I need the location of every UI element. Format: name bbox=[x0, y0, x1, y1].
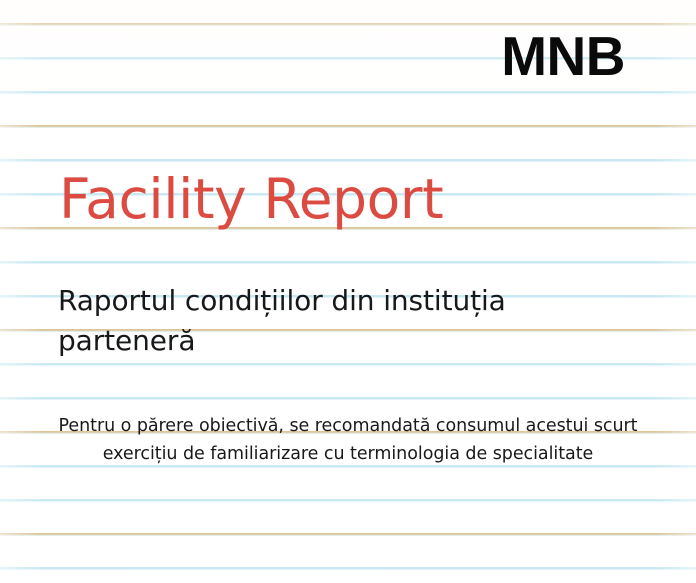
report-cover-page: MNB Facility Report Raportul condițiilor… bbox=[0, 0, 696, 583]
page-subtitle: Raportul condițiilor din instituția part… bbox=[58, 281, 578, 361]
cover-note: Pentru o părere obiectivă, se recomandat… bbox=[24, 412, 672, 469]
cover-note-line-2: exercițiu de familiarizare cu terminolog… bbox=[24, 440, 672, 468]
cover-content: MNB Facility Report Raportul condițiilor… bbox=[0, 0, 696, 583]
page-title: Facility Report bbox=[59, 170, 443, 229]
cover-note-line-1: Pentru o părere obiectivă, se recomandat… bbox=[24, 412, 672, 440]
brand-wordmark: MNB bbox=[0, 28, 625, 86]
